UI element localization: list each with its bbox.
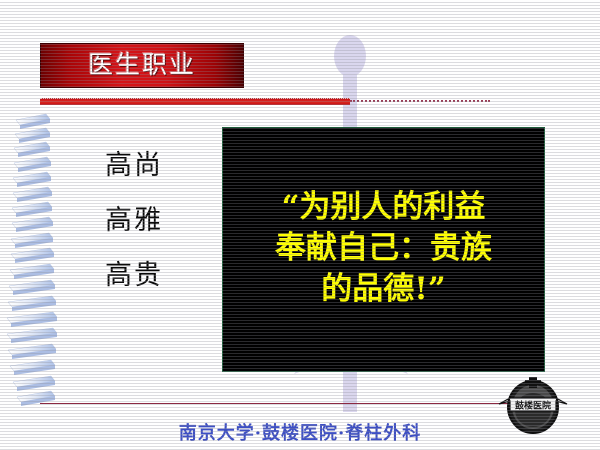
gulou-hospital-emblem-icon: 鼓楼医院 [496,374,570,436]
quote-panel: “为别人的利益 奉献自己：贵族 的品德!” [222,127,545,372]
svg-text:鼓楼医院: 鼓楼医院 [515,400,551,412]
title-underline-dotted-extension [350,100,490,102]
list-item: 高雅 [88,207,180,234]
vertebrae-stack [6,112,78,407]
quote-line: “为别人的利益 [282,187,486,228]
quote-line: 的品德!” [321,269,445,310]
keyword-list: 高尚 高雅 高贵 [88,152,180,289]
footer-caption: 南京大学·鼓楼医院·脊柱外科 [179,423,422,444]
presentation-slide: 医生职业 高尚 高雅 高贵 “为别人的利益 奉献自己：贵族 的品德!” 南京大学… [0,0,600,450]
title-underline-rule [40,98,350,105]
quote-line: 奉献自己：贵族 [275,228,492,269]
list-item: 高尚 [88,152,180,179]
page-title: 医生职业 [88,52,196,79]
footer-divider [40,403,520,404]
slide-title-plate: 医生职业 [40,43,244,88]
list-item: 高贵 [88,262,180,289]
